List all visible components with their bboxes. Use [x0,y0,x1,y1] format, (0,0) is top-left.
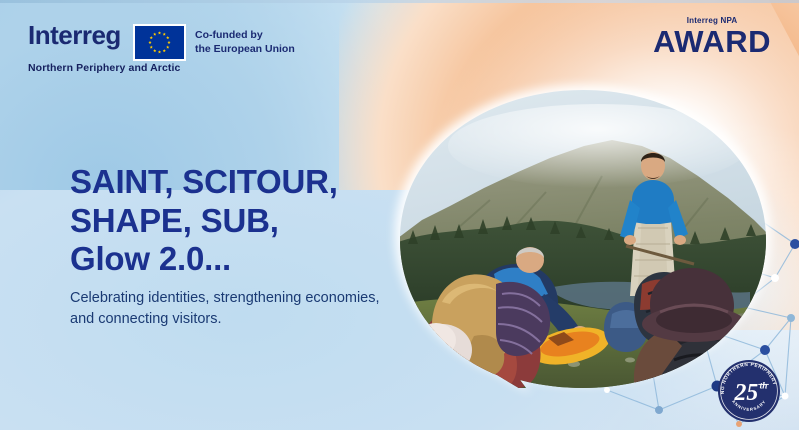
eu-text-line2: the European Union [195,43,295,57]
award-title: AWARD [653,26,771,57]
top-divider-line [0,0,799,3]
eu-cofunded-emblem: Co-funded by the European Union [133,24,295,61]
eu-stars [135,26,184,59]
badge-number: 25 [733,380,758,406]
interreg-wordmark: Interreg [28,22,121,48]
npa-award-logo: Interreg NPA AWARD [653,16,771,57]
eu-text-line1: Co-funded by [195,29,295,43]
speech-bubble-photo [398,88,768,388]
page-subtitle: Celebrating identities, strengthening ec… [70,288,380,330]
anniversary-badge: CELEBRATING NORTHERN PERIPHERY AND ARCTI… [716,358,782,424]
speech-bubble-image [398,88,768,388]
eu-flag-icon [133,24,186,61]
badge-ordinal: th [760,380,768,390]
eu-cofunded-text: Co-funded by the European Union [195,29,295,57]
interreg-programme-name: Northern Periphery and Arctic [28,62,180,74]
page-title: SAINT, SCITOUR, SHAPE, SUB, Glow 2.0... [70,163,338,279]
interreg-npa-award-banner: Interreg Northern Periphery and Arctic C… [0,0,799,430]
